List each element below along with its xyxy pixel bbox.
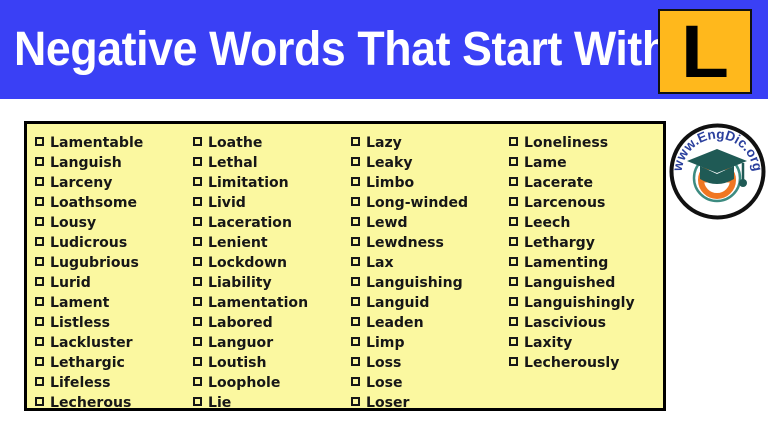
list-item[interactable]: Loathsome bbox=[35, 193, 193, 213]
list-item[interactable]: Lamentable bbox=[35, 133, 193, 153]
list-item[interactable]: Limp bbox=[351, 333, 509, 353]
word-label: Languish bbox=[50, 153, 122, 173]
word-column-4: Loneliness Lame Lacerate Larcenous Leech… bbox=[509, 133, 667, 408]
word-label: Loathsome bbox=[50, 193, 137, 213]
empty-checkbox-icon[interactable] bbox=[35, 337, 44, 346]
word-label: Lament bbox=[50, 293, 109, 313]
list-item[interactable]: Labored bbox=[193, 313, 351, 333]
word-label: Lecherously bbox=[524, 353, 619, 373]
word-label: Lugubrious bbox=[50, 253, 139, 273]
word-label: Languished bbox=[524, 273, 615, 293]
list-item[interactable]: Lewd bbox=[351, 213, 509, 233]
list-item[interactable]: Languishingly bbox=[509, 293, 667, 313]
list-item[interactable]: Leech bbox=[509, 213, 667, 233]
empty-checkbox-icon[interactable] bbox=[35, 397, 44, 406]
header-band: Negative Words That Start With L bbox=[0, 0, 768, 99]
empty-checkbox-icon[interactable] bbox=[351, 317, 360, 326]
word-label: Laceration bbox=[208, 213, 292, 233]
empty-checkbox-icon[interactable] bbox=[351, 217, 360, 226]
empty-checkbox-icon[interactable] bbox=[193, 377, 202, 386]
list-item[interactable]: Loutish bbox=[193, 353, 351, 373]
list-item[interactable]: Lazy bbox=[351, 133, 509, 153]
letter-badge: L bbox=[658, 9, 752, 94]
empty-checkbox-icon[interactable] bbox=[193, 317, 202, 326]
list-item[interactable]: Lamentation bbox=[193, 293, 351, 313]
word-list-panel: Lamentable Languish Larceny Loathsome Lo… bbox=[24, 121, 666, 411]
word-label: Lacerate bbox=[524, 173, 593, 193]
word-label: Labored bbox=[208, 313, 273, 333]
list-item[interactable]: Lenient bbox=[193, 233, 351, 253]
word-column-3: Lazy Leaky Limbo Long-winded Lewd Lewdne… bbox=[351, 133, 509, 408]
list-item[interactable]: Lifeless bbox=[35, 373, 193, 393]
empty-checkbox-icon[interactable] bbox=[351, 377, 360, 386]
word-column-2: Loathe Lethal Limitation Livid Laceratio… bbox=[193, 133, 351, 408]
word-label: Lurid bbox=[50, 273, 91, 293]
empty-checkbox-icon[interactable] bbox=[193, 217, 202, 226]
list-item[interactable]: Lethal bbox=[193, 153, 351, 173]
empty-checkbox-icon[interactable] bbox=[351, 237, 360, 246]
empty-checkbox-icon[interactable] bbox=[509, 217, 518, 226]
empty-checkbox-icon[interactable] bbox=[351, 297, 360, 306]
empty-checkbox-icon[interactable] bbox=[509, 197, 518, 206]
empty-checkbox-icon[interactable] bbox=[35, 177, 44, 186]
empty-checkbox-icon[interactable] bbox=[351, 177, 360, 186]
word-label: Lewdness bbox=[366, 233, 444, 253]
word-label: Loser bbox=[366, 393, 409, 413]
word-label: Leaky bbox=[366, 153, 413, 173]
empty-checkbox-icon[interactable] bbox=[509, 297, 518, 306]
list-item[interactable]: Languishing bbox=[351, 273, 509, 293]
list-item[interactable]: Loss bbox=[351, 353, 509, 373]
list-item[interactable]: Loathe bbox=[193, 133, 351, 153]
word-label: Limp bbox=[366, 333, 405, 353]
empty-checkbox-icon[interactable] bbox=[509, 177, 518, 186]
empty-checkbox-icon[interactable] bbox=[35, 237, 44, 246]
list-item[interactable]: Lose bbox=[351, 373, 509, 393]
empty-checkbox-icon[interactable] bbox=[193, 297, 202, 306]
empty-checkbox-icon[interactable] bbox=[351, 357, 360, 366]
word-label: Lazy bbox=[366, 133, 402, 153]
empty-checkbox-icon[interactable] bbox=[351, 397, 360, 406]
word-label: Lethargy bbox=[524, 233, 595, 253]
list-item[interactable]: Laceration bbox=[193, 213, 351, 233]
word-label: Lax bbox=[366, 253, 394, 273]
word-label: Livid bbox=[208, 193, 246, 213]
word-label: Lethargic bbox=[50, 353, 125, 373]
empty-checkbox-icon[interactable] bbox=[193, 137, 202, 146]
word-label: Loophole bbox=[208, 373, 280, 393]
list-item[interactable]: Lament bbox=[35, 293, 193, 313]
word-label: Lewd bbox=[366, 213, 408, 233]
word-label: Limbo bbox=[366, 173, 414, 193]
word-column-1: Lamentable Languish Larceny Loathsome Lo… bbox=[35, 133, 193, 408]
list-item[interactable]: Languish bbox=[35, 153, 193, 173]
list-item[interactable]: Lewdness bbox=[351, 233, 509, 253]
empty-checkbox-icon[interactable] bbox=[35, 317, 44, 326]
word-label: Lamenting bbox=[524, 253, 608, 273]
word-label: Lamentable bbox=[50, 133, 143, 153]
empty-checkbox-icon[interactable] bbox=[351, 257, 360, 266]
word-label: Lackluster bbox=[50, 333, 133, 353]
list-item[interactable]: Limbo bbox=[351, 173, 509, 193]
empty-checkbox-icon[interactable] bbox=[35, 257, 44, 266]
empty-checkbox-icon[interactable] bbox=[193, 337, 202, 346]
list-item[interactable]: Ludicrous bbox=[35, 233, 193, 253]
word-label: Lose bbox=[366, 373, 403, 393]
word-label: Languishingly bbox=[524, 293, 635, 313]
list-item[interactable]: Lamenting bbox=[509, 253, 667, 273]
empty-checkbox-icon[interactable] bbox=[509, 157, 518, 166]
list-item[interactable]: Lugubrious bbox=[35, 253, 193, 273]
word-label: Loathe bbox=[208, 133, 262, 153]
list-item[interactable]: Liability bbox=[193, 273, 351, 293]
word-label: Lascivious bbox=[524, 313, 606, 333]
empty-checkbox-icon[interactable] bbox=[35, 217, 44, 226]
list-item[interactable]: Laxity bbox=[509, 333, 667, 353]
word-label: Leech bbox=[524, 213, 570, 233]
empty-checkbox-icon[interactable] bbox=[193, 157, 202, 166]
word-label: Languid bbox=[366, 293, 429, 313]
empty-checkbox-icon[interactable] bbox=[509, 317, 518, 326]
list-item[interactable]: Loneliness bbox=[509, 133, 667, 153]
word-label: Loutish bbox=[208, 353, 267, 373]
empty-checkbox-icon[interactable] bbox=[193, 237, 202, 246]
list-item[interactable]: Loophole bbox=[193, 373, 351, 393]
letter-badge-glyph: L bbox=[657, 11, 752, 92]
empty-checkbox-icon[interactable] bbox=[351, 337, 360, 346]
empty-checkbox-icon[interactable] bbox=[351, 197, 360, 206]
list-item[interactable]: Lame bbox=[509, 153, 667, 173]
word-label: Lenient bbox=[208, 233, 268, 253]
word-label: Lie bbox=[208, 393, 231, 413]
empty-checkbox-icon[interactable] bbox=[193, 397, 202, 406]
word-label: Liability bbox=[208, 273, 272, 293]
empty-checkbox-icon[interactable] bbox=[35, 197, 44, 206]
list-item[interactable]: Lurid bbox=[35, 273, 193, 293]
list-item[interactable]: Listless bbox=[35, 313, 193, 333]
word-label: Long-winded bbox=[366, 193, 468, 213]
word-label: Limitation bbox=[208, 173, 289, 193]
site-logo[interactable]: www.EngDic.org bbox=[669, 123, 766, 220]
empty-checkbox-icon[interactable] bbox=[35, 277, 44, 286]
empty-checkbox-icon[interactable] bbox=[35, 297, 44, 306]
list-item[interactable]: Leaden bbox=[351, 313, 509, 333]
engdic-logo-icon: www.EngDic.org bbox=[669, 123, 766, 220]
list-item[interactable]: Lousy bbox=[35, 213, 193, 233]
empty-checkbox-icon[interactable] bbox=[509, 137, 518, 146]
empty-checkbox-icon[interactable] bbox=[351, 157, 360, 166]
list-item[interactable]: Lecherously bbox=[509, 353, 667, 373]
word-label: Languor bbox=[208, 333, 273, 353]
word-label: Lecherous bbox=[50, 393, 131, 413]
list-item[interactable]: Long-winded bbox=[351, 193, 509, 213]
list-item[interactable]: Lockdown bbox=[193, 253, 351, 273]
word-label: Lifeless bbox=[50, 373, 111, 393]
empty-checkbox-icon[interactable] bbox=[193, 257, 202, 266]
empty-checkbox-icon[interactable] bbox=[509, 237, 518, 246]
word-label: Languishing bbox=[366, 273, 463, 293]
empty-checkbox-icon[interactable] bbox=[351, 277, 360, 286]
empty-checkbox-icon[interactable] bbox=[193, 197, 202, 206]
list-item[interactable]: Lacerate bbox=[509, 173, 667, 193]
word-label: Ludicrous bbox=[50, 233, 127, 253]
list-item[interactable]: Livid bbox=[193, 193, 351, 213]
empty-checkbox-icon[interactable] bbox=[193, 357, 202, 366]
empty-checkbox-icon[interactable] bbox=[509, 357, 518, 366]
word-label: Lockdown bbox=[208, 253, 287, 273]
empty-checkbox-icon[interactable] bbox=[35, 157, 44, 166]
empty-checkbox-icon[interactable] bbox=[351, 137, 360, 146]
word-label: Larcenous bbox=[524, 193, 605, 213]
word-columns: Lamentable Languish Larceny Loathsome Lo… bbox=[27, 124, 663, 408]
word-label: Laxity bbox=[524, 333, 572, 353]
empty-checkbox-icon[interactable] bbox=[509, 257, 518, 266]
list-item[interactable]: Languid bbox=[351, 293, 509, 313]
empty-checkbox-icon[interactable] bbox=[509, 337, 518, 346]
list-item[interactable]: Lax bbox=[351, 253, 509, 273]
word-label: Lamentation bbox=[208, 293, 308, 313]
word-label: Larceny bbox=[50, 173, 112, 193]
word-label: Leaden bbox=[366, 313, 424, 333]
empty-checkbox-icon[interactable] bbox=[35, 377, 44, 386]
list-item[interactable]: Larcenous bbox=[509, 193, 667, 213]
list-item[interactable]: Languished bbox=[509, 273, 667, 293]
word-label: Loneliness bbox=[524, 133, 608, 153]
word-label: Lethal bbox=[208, 153, 258, 173]
list-item[interactable]: Lie bbox=[193, 393, 351, 413]
list-item[interactable]: Lascivious bbox=[509, 313, 667, 333]
empty-checkbox-icon[interactable] bbox=[193, 177, 202, 186]
empty-checkbox-icon[interactable] bbox=[509, 277, 518, 286]
page-title: Negative Words That Start With bbox=[14, 18, 600, 82]
word-label: Listless bbox=[50, 313, 110, 333]
list-item[interactable]: Languor bbox=[193, 333, 351, 353]
list-item[interactable]: Lackluster bbox=[35, 333, 193, 353]
word-label: Lame bbox=[524, 153, 567, 173]
list-item[interactable]: Larceny bbox=[35, 173, 193, 193]
list-item[interactable]: Leaky bbox=[351, 153, 509, 173]
list-item[interactable]: Lethargy bbox=[509, 233, 667, 253]
list-item[interactable]: Loser bbox=[351, 393, 509, 413]
list-item[interactable]: Lecherous bbox=[35, 393, 193, 413]
word-label: Lousy bbox=[50, 213, 96, 233]
list-item[interactable]: Limitation bbox=[193, 173, 351, 193]
empty-checkbox-icon[interactable] bbox=[35, 137, 44, 146]
empty-checkbox-icon[interactable] bbox=[35, 357, 44, 366]
list-item[interactable]: Lethargic bbox=[35, 353, 193, 373]
empty-checkbox-icon[interactable] bbox=[193, 277, 202, 286]
word-label: Loss bbox=[366, 353, 401, 373]
